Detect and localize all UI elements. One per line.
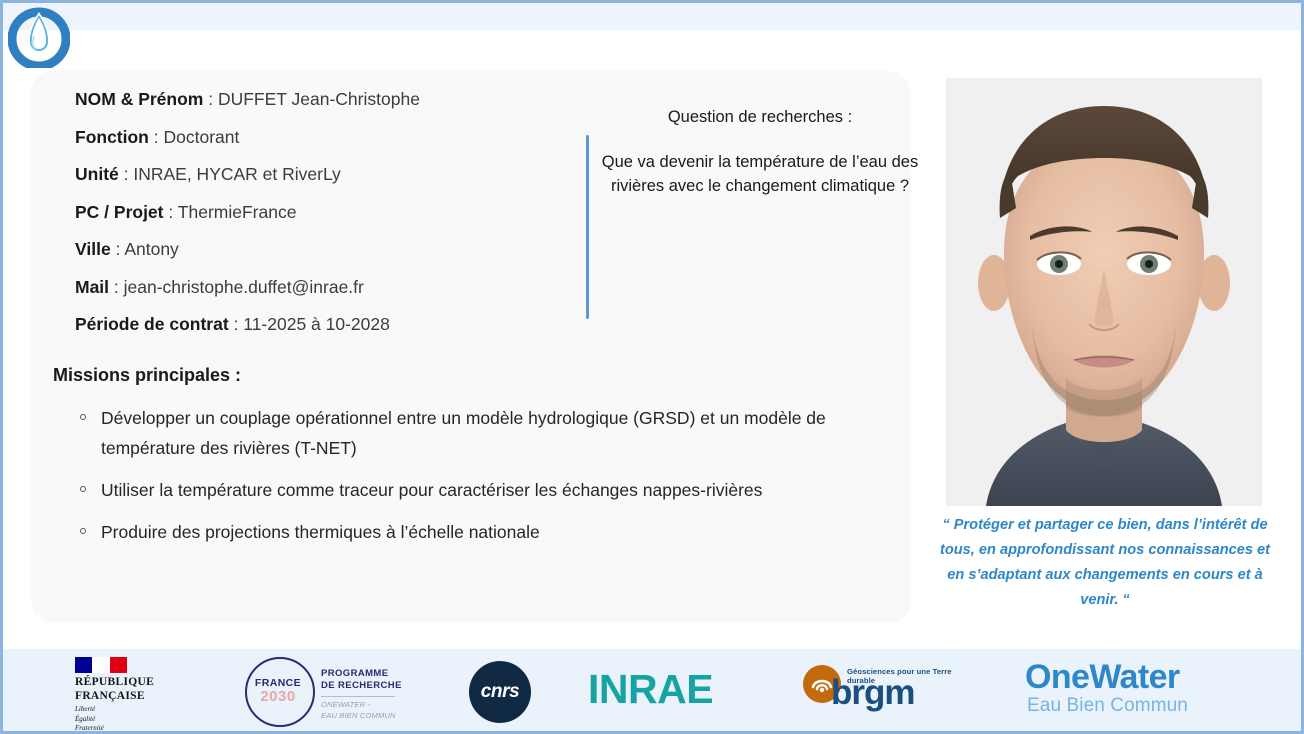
cnrs-logo: cnrs bbox=[469, 661, 531, 723]
brgm-label: brgm bbox=[831, 675, 915, 710]
rf-line2: FRANÇAISE bbox=[75, 690, 190, 704]
info-value: : ThermieFrance bbox=[168, 202, 296, 222]
onewater-logo: OneWater Eau Bien Commun bbox=[1023, 659, 1253, 727]
poster-page: NOM & Prénom : DUFFET Jean-Christophe Fo… bbox=[0, 0, 1304, 734]
portrait-photo bbox=[946, 78, 1262, 506]
republique-francaise-logo: RÉPUBLIQUE FRANÇAISE Liberté Égalité Fra… bbox=[75, 657, 190, 734]
programme-line2: DE RECHERCHE bbox=[321, 680, 402, 692]
brgm-logo: Géosciences pour une Terre durable brgm bbox=[803, 657, 978, 727]
missions-list: Développer un couplage opérationnel entr… bbox=[77, 403, 907, 559]
list-item: Produire des projections thermiques à l’… bbox=[77, 517, 907, 547]
info-value: : Doctorant bbox=[154, 127, 240, 147]
info-row: Ville : Antony bbox=[75, 241, 595, 259]
onewater-subtitle: Eau Bien Commun bbox=[1023, 696, 1253, 717]
info-key: Ville bbox=[75, 239, 111, 259]
info-key: Unité bbox=[75, 164, 119, 184]
inrae-logo: INRAE bbox=[588, 669, 713, 710]
info-key: Fonction bbox=[75, 127, 149, 147]
rf-motto-fraternite: Fraternité bbox=[75, 724, 190, 734]
research-question-title: Question de recherches : bbox=[601, 107, 919, 128]
programme-divider bbox=[321, 696, 395, 697]
info-value: : jean-christophe.duffet@inrae.fr bbox=[114, 277, 364, 297]
list-item: Utiliser la température comme traceur po… bbox=[77, 475, 907, 505]
research-question-block: Question de recherches : Que va devenir … bbox=[601, 107, 919, 199]
programme-sub1: ONEWATER - bbox=[321, 700, 396, 711]
cnrs-label: cnrs bbox=[469, 681, 531, 703]
info-value: : DUFFET Jean-Christophe bbox=[208, 89, 420, 109]
info-row: Fonction : Doctorant bbox=[75, 129, 595, 147]
onewater-title: OneWater bbox=[1023, 659, 1253, 696]
info-value: : INRAE, HYCAR et RiverLy bbox=[124, 164, 341, 184]
france-2030-year-label: 2030 bbox=[250, 688, 306, 705]
info-key: NOM & Prénom bbox=[75, 89, 203, 109]
rf-line1: RÉPUBLIQUE bbox=[75, 676, 190, 690]
info-key: Mail bbox=[75, 277, 109, 297]
info-value: : Antony bbox=[116, 239, 179, 259]
rf-motto-liberte: Liberté bbox=[75, 705, 190, 715]
info-key: PC / Projet bbox=[75, 202, 164, 222]
footer-logo-bar: RÉPUBLIQUE FRANÇAISE Liberté Égalité Fra… bbox=[3, 649, 1304, 734]
info-row: PC / Projet : ThermieFrance bbox=[75, 204, 595, 222]
info-block: NOM & Prénom : DUFFET Jean-Christophe Fo… bbox=[75, 91, 595, 354]
programme-sub2: EAU BIEN COMMUN bbox=[321, 711, 396, 722]
list-item: Développer un couplage opérationnel entr… bbox=[77, 403, 907, 463]
info-row: NOM & Prénom : DUFFET Jean-Christophe bbox=[75, 91, 595, 109]
profile-card: NOM & Prénom : DUFFET Jean-Christophe Fo… bbox=[31, 71, 911, 623]
missions-title: Missions principales : bbox=[53, 365, 241, 386]
info-row: Mail : jean-christophe.duffet@inrae.fr bbox=[75, 279, 595, 297]
info-row: Période de contrat : 11-2025 à 10-2028 bbox=[75, 316, 595, 334]
top-band bbox=[3, 3, 1304, 30]
france-2030-logo: FRANCE 2030 PROGRAMME DE RECHERCHE ONEWA… bbox=[243, 653, 403, 727]
info-key: Période de contrat bbox=[75, 314, 229, 334]
rf-motto-egalite: Égalité bbox=[75, 715, 190, 725]
cnrs-disc-icon: cnrs bbox=[469, 661, 531, 723]
programme-line1: PROGRAMME bbox=[321, 668, 402, 680]
question-accent-bar bbox=[586, 135, 589, 319]
inrae-label: INRAE bbox=[588, 669, 713, 710]
quote-text: “ Protéger et partager ce bien, dans l’i… bbox=[931, 513, 1279, 613]
research-question-text: Que va devenir la température de l’eau d… bbox=[601, 151, 919, 199]
info-row: Unité : INRAE, HYCAR et RiverLy bbox=[75, 166, 595, 184]
french-flag-icon bbox=[75, 657, 127, 673]
water-drop-icon bbox=[8, 6, 70, 68]
info-value: : 11-2025 à 10-2028 bbox=[234, 314, 390, 334]
